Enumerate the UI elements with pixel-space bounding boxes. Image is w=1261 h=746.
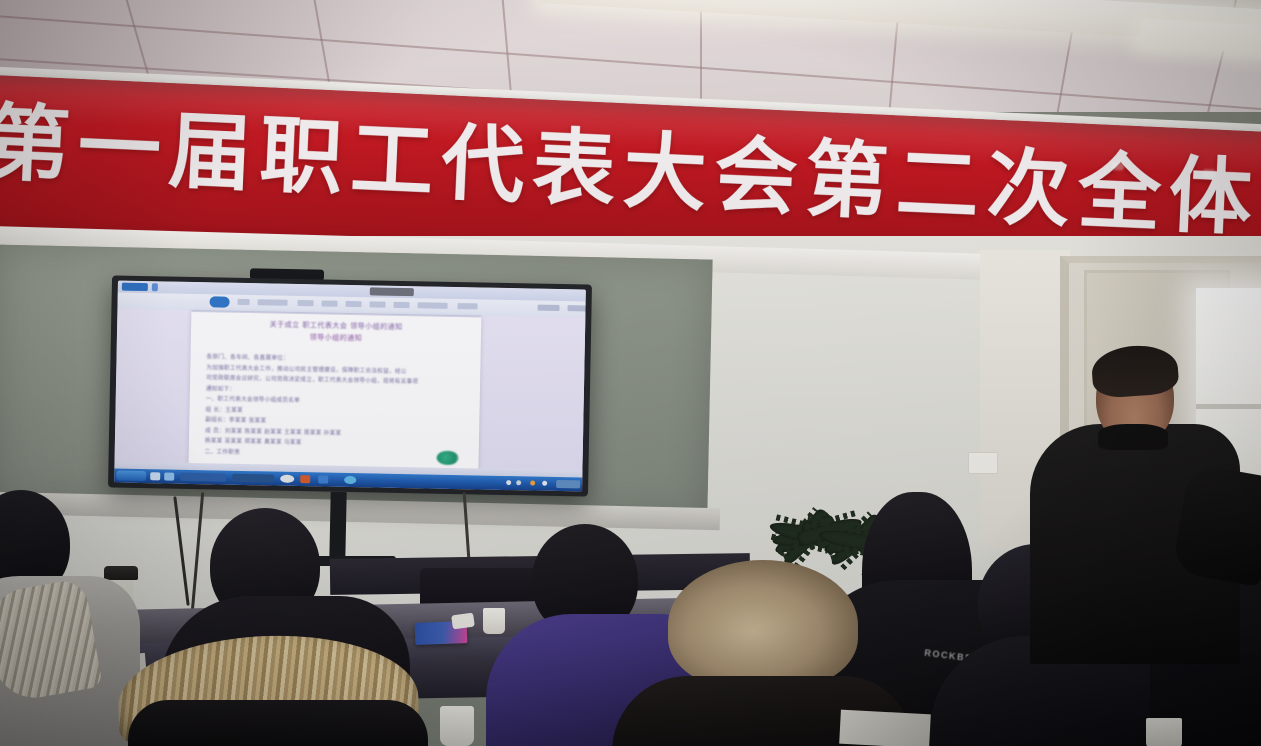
audience-body [128,700,428,746]
printed-document[interactable] [839,710,931,746]
taskbar-explorer-icon[interactable] [150,472,160,480]
audience-head-bald [668,560,858,690]
tray-volume-icon[interactable] [516,480,521,485]
titlebar-save-icon[interactable] [122,283,148,291]
taskbar-chat-icon[interactable] [344,476,356,484]
start-button-icon[interactable] [116,471,146,482]
tv-stand-neck [329,492,346,560]
ribbon-tab-tools[interactable] [418,302,448,309]
ribbon-share-button[interactable] [537,305,559,311]
fluorescent-light-strip-2 [1139,18,1261,57]
light-switch-plate[interactable] [968,452,998,474]
paper-cup[interactable] [1146,718,1182,746]
meeting-room-photo: 第一届职工代表大会第二次全体会议 [0,0,1261,746]
thermos-lid[interactable] [104,566,138,580]
tray-battery-icon[interactable] [542,481,547,486]
ribbon-tab-file[interactable] [238,299,250,305]
ribbon-tab-layout[interactable] [322,300,338,306]
banner-tack-right [1203,169,1216,179]
ribbon-tab-insert[interactable] [298,300,314,306]
office-logo-icon[interactable] [209,296,229,307]
app-left-margin [114,309,191,470]
ribbon-tab-refs[interactable] [346,301,362,307]
green-seal-icon [437,451,459,465]
wall-mounted-tv[interactable]: 关于成立 职工代表大会 领导小组的通知 领导小组的通知 各部门、各车间、各直属单… [108,275,592,496]
app-right-margin [478,316,586,478]
taskbar-word-icon[interactable] [318,475,328,483]
paper-cup[interactable] [483,608,505,634]
tray-network-icon[interactable] [506,480,511,485]
speaker-collar [1098,424,1168,450]
taskbar-window-button[interactable] [180,473,226,482]
titlebar-undo-icon[interactable] [152,283,158,291]
tray-alert-icon[interactable] [530,480,535,485]
ribbon-tab-home[interactable] [258,299,288,306]
window-mullion [1196,404,1261,409]
document-page: 关于成立 职工代表大会 领导小组的通知 领导小组的通知 各部门、各车间、各直属单… [188,312,481,476]
taskbar-browser-icon[interactable] [164,472,174,480]
ribbon-tab-help[interactable] [457,303,477,309]
banner-tack-left [1111,161,1124,171]
titlebar-doc-name [370,287,414,296]
paper-cup[interactable] [440,706,474,746]
ribbon-comment-button[interactable] [567,305,585,311]
taskbar-app-icon[interactable] [300,475,310,483]
tv-screen: 关于成立 职工代表大会 领导小组的通知 领导小组的通知 各部门、各车间、各直属单… [114,281,586,492]
taskbar-window-button-2[interactable] [232,474,274,483]
ribbon-tab-review[interactable] [370,301,386,307]
taskbar-clock[interactable] [556,480,580,488]
ribbon-tab-view[interactable] [394,302,410,308]
document-body: 各部门、各车间、各直属单位： 为加强职工代表大会工作，推动公司民主管理建设，保障… [205,352,469,462]
taskbar-media-icon[interactable] [280,475,294,483]
